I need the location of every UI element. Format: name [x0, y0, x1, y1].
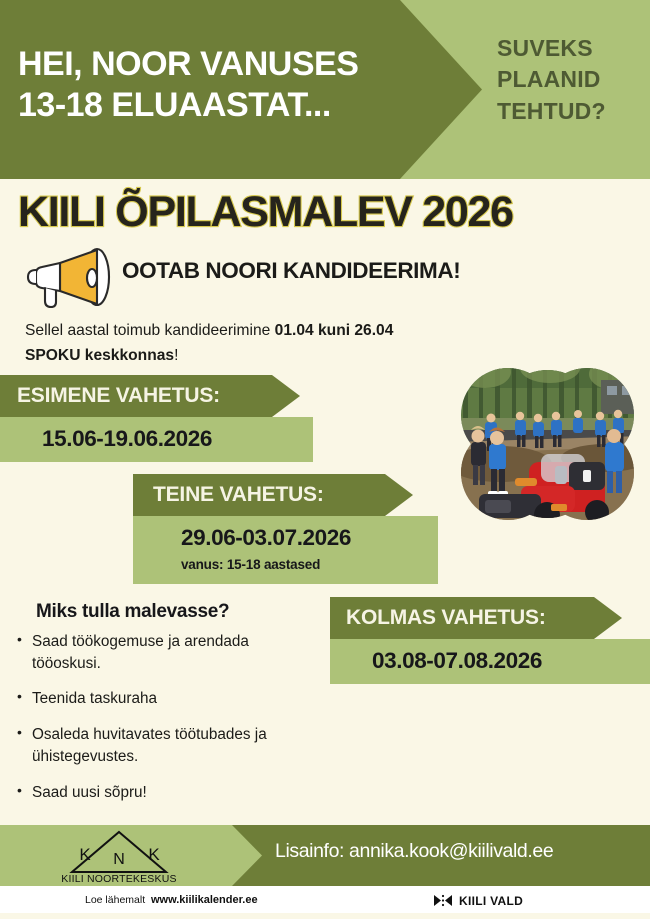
shift-2-heading-label: TEINE VAHETUS:: [153, 483, 324, 507]
malev-photo: [455, 358, 640, 530]
shift-3-heading-label: KOLMAS VAHETUS:: [346, 606, 546, 630]
page-subtitle: OOTAB NOORI KANDIDEERIMA!: [122, 258, 460, 284]
shift-3-heading: KOLMAS VAHETUS:: [330, 597, 622, 639]
page-title: KIILI ÕPILASMALEV 2026: [18, 188, 513, 237]
megaphone-icon: [24, 246, 120, 312]
shift-1-dates: 15.06-19.06.2026: [42, 426, 313, 452]
shift-2-dates: 29.06-03.07.2026: [181, 525, 438, 551]
bottom-read-more: Loe lähemalt www.kiilikalender.ee: [85, 894, 258, 906]
shift-1-heading: ESIMENE VAHETUS:: [0, 375, 300, 417]
header-question-line2: PLAANID: [497, 64, 642, 95]
bottom-strip: [0, 913, 650, 919]
intro-line2: SPOKU keskkonnas!: [25, 344, 505, 369]
list-item: Saad töökogemuse ja arendada tööoskusi.: [14, 631, 319, 674]
intro-line1-bold: 01.04 kuni 26.04: [275, 322, 394, 339]
shift-1-heading-label: ESIMENE VAHETUS:: [17, 384, 220, 408]
footer-contact[interactable]: Lisainfo: annika.kook@kiilivald.ee: [275, 840, 553, 863]
poster-root: HEI, NOOR VANUSES 13-18 ELUAASTAT... SUV…: [0, 0, 650, 919]
shift-2-body: 29.06-03.07.2026 vanus: 15-18 aastased: [133, 516, 438, 584]
header-headline: HEI, NOOR VANUSES 13-18 ELUAASTAT...: [18, 44, 418, 127]
benefits-title: Miks tulla malevasse?: [36, 601, 229, 623]
list-item: Saad uusi sõpru!: [14, 782, 319, 804]
header-question: SUVEKS PLAANID TEHTUD?: [497, 33, 642, 127]
shift-3-body: 03.08-07.08.2026: [330, 639, 650, 684]
intro-line2-tail: !: [174, 347, 178, 364]
intro-line2-bold: SPOKU keskkonnas: [25, 347, 174, 364]
bottom-website-link[interactable]: www.kiilikalender.ee: [151, 894, 258, 906]
knk-caption: KIILI NOORTEKESKUS: [61, 873, 176, 884]
intro-line1-normal: Sellel aastal toimub kandideerimine: [25, 322, 275, 339]
kiili-noortekeskus-logo-icon: K N K KIILI NOORTEKESKUS: [58, 828, 180, 884]
intro-paragraph: Sellel aastal toimub kandideerimine 01.0…: [25, 319, 505, 368]
list-item: Teenida taskuraha: [14, 688, 319, 710]
kiili-vald-label: KIILI VALD: [459, 894, 523, 908]
bottom-municipality: KIILI VALD: [433, 893, 523, 908]
header-headline-line2: 13-18 ELUAASTAT...: [18, 85, 418, 126]
bottom-read-more-label: Loe lähemalt: [85, 894, 145, 906]
shift-1-body: 15.06-19.06.2026: [0, 417, 313, 462]
knk-letter-left: K: [79, 845, 91, 864]
benefits-list: Saad töökogemuse ja arendada tööoskusi. …: [14, 631, 319, 817]
shift-2-heading: TEINE VAHETUS:: [133, 474, 413, 516]
header-headline-line1: HEI, NOOR VANUSES: [18, 45, 358, 83]
shift-2-age-note: vanus: 15-18 aastased: [181, 557, 438, 572]
header-question-line3: TEHTUD?: [497, 96, 642, 127]
knk-letter-mid: N: [113, 851, 125, 868]
header-question-line1: SUVEKS: [497, 33, 642, 64]
kiili-vald-mark-icon: [433, 893, 453, 908]
knk-letter-right: K: [148, 845, 160, 864]
list-item: Osaleda huvitavates töötubades ja ühiste…: [14, 724, 319, 767]
shift-3-dates: 03.08-07.08.2026: [372, 648, 650, 674]
